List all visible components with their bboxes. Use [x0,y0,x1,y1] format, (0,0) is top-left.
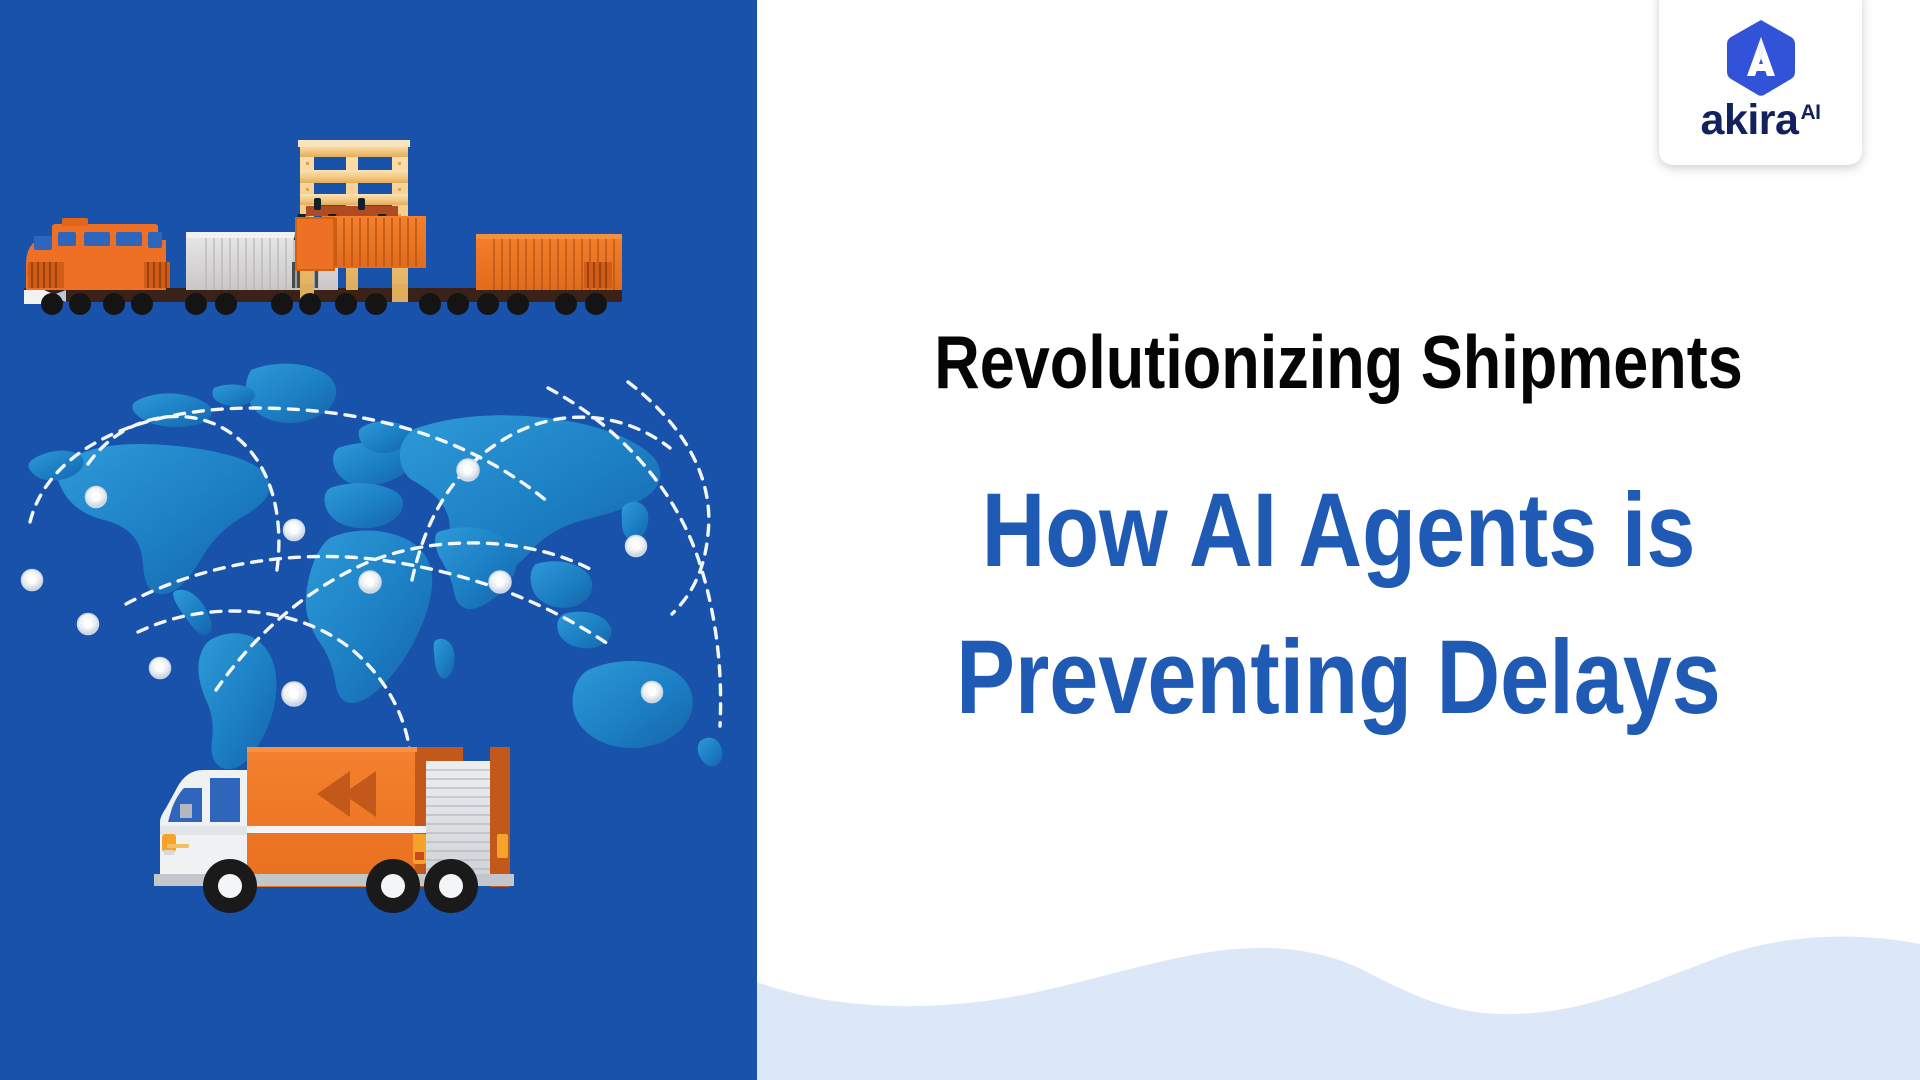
world-map-shipping-routes [8,352,738,772]
map-landmasses [29,364,723,770]
akira-hexagon-a-logo-icon [1724,18,1798,98]
brand-wordmark-superscript: AI [1800,102,1820,123]
bottom-wave-decoration [757,920,1920,1080]
left-visual-panel [0,0,757,1080]
brand-wordmark-text: akira [1701,100,1799,141]
truck-cab [160,770,247,874]
brand-wordmark: akira AI [1701,100,1821,141]
delivery-truck-illustration [140,722,540,922]
headline-title-line-1: How AI Agents is [850,478,1827,583]
right-content-panel: akira AI Revolutionizing Shipments How A… [757,0,1920,1080]
headline-title-line-2: Preventing Delays [850,625,1827,730]
brand-logo-card[interactable]: akira AI [1659,0,1862,165]
gantry-crane [294,140,426,302]
orange-container-wagon [476,234,622,290]
headline-kicker: Revolutionizing Shipments [850,325,1827,400]
freight-train-illustration [10,140,630,360]
